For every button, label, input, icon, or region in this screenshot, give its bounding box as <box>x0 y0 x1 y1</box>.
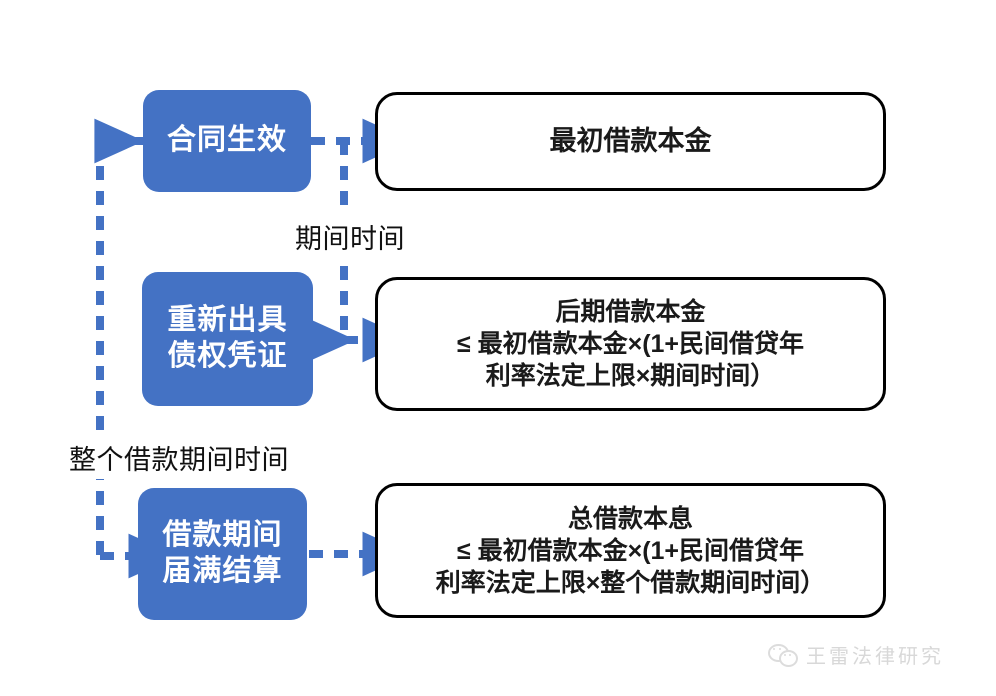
watermark-text: 王雷法律研究 <box>806 640 944 669</box>
result-initial-principal-text: 最初借款本金 <box>550 124 712 159</box>
result-later-principal-line1: 后期借款本金 <box>555 296 705 328</box>
result-total-principal-interest: 总借款本息 ≤ 最初借款本金×(1+民间借贷年 利率法定上限×整个借款期间时间） <box>375 483 886 618</box>
node-loan-period-settlement[interactable]: 借款期间 届满结算 <box>138 488 307 620</box>
node-reissue-certificate-label-line2: 债权凭证 <box>167 339 287 375</box>
diagram-canvas: 合同生效 重新出具 债权凭证 借款期间 届满结算 最初借款本金 后期借款本金 ≤… <box>0 0 996 696</box>
result-later-principal-line3: 利率法定上限×期间时间） <box>486 360 776 392</box>
node-loan-period-settlement-label-line1: 借款期间 <box>162 518 282 554</box>
result-later-principal-line2: ≤ 最初借款本金×(1+民间借贷年 <box>457 328 804 360</box>
node-contract-effective-label: 合同生效 <box>167 123 287 159</box>
edge-label-period-time: 期间时间 <box>289 215 411 258</box>
result-later-principal: 后期借款本金 ≤ 最初借款本金×(1+民间借贷年 利率法定上限×期间时间） <box>375 277 886 411</box>
node-loan-period-settlement-label-line2: 届满结算 <box>162 554 282 590</box>
result-total-principal-interest-line3: 利率法定上限×整个借款期间时间） <box>436 567 826 599</box>
node-reissue-certificate-label-line1: 重新出具 <box>167 303 287 339</box>
node-contract-effective[interactable]: 合同生效 <box>143 90 311 192</box>
result-total-principal-interest-line1: 总借款本息 <box>568 503 693 535</box>
node-reissue-certificate[interactable]: 重新出具 债权凭证 <box>142 272 313 406</box>
result-total-principal-interest-line2: ≤ 最初借款本金×(1+民间借贷年 <box>457 535 804 567</box>
watermark: 王雷法律研究 <box>768 640 944 669</box>
result-initial-principal: 最初借款本金 <box>375 92 886 191</box>
edge-label-whole-period-time: 整个借款期间时间 <box>63 436 295 479</box>
wechat-icon <box>768 643 798 667</box>
connector-left-spine <box>100 141 143 556</box>
